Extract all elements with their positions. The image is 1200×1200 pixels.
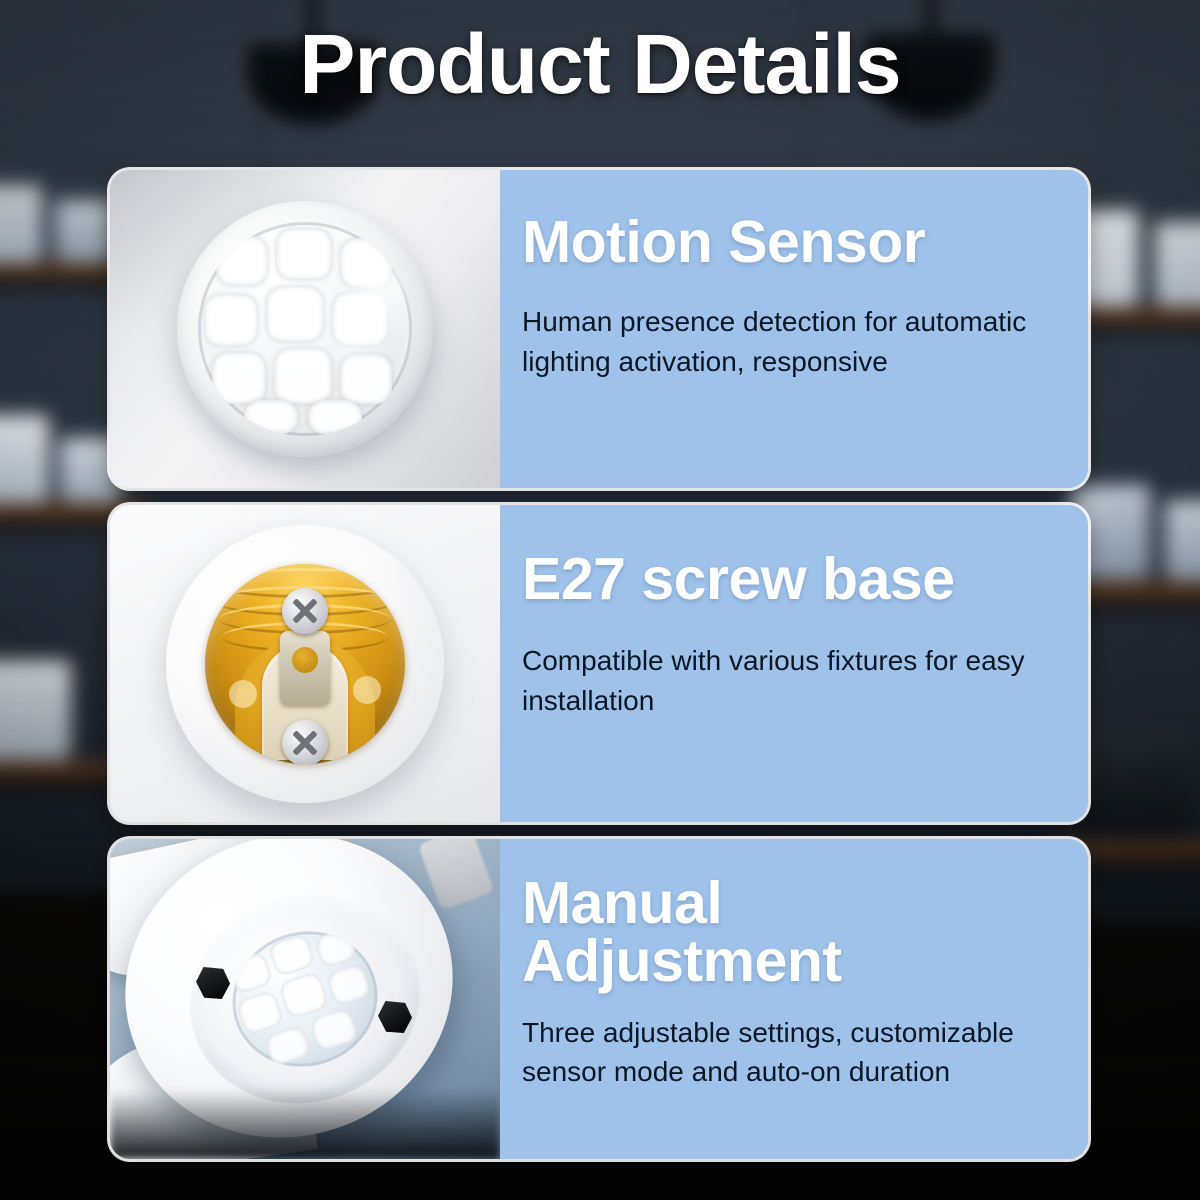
- feature-description: Human presence detection for automatic l…: [522, 302, 1054, 382]
- feature-title: E27 screw base: [522, 551, 1054, 609]
- feature-card[interactable]: Motion Sensor Human presence detection f…: [110, 170, 1088, 488]
- e27-brass-threads: [205, 564, 405, 764]
- pir-dome-sensor-photo: [110, 170, 500, 488]
- feature-card-list: Motion Sensor Human presence detection f…: [110, 170, 1088, 1176]
- sensor-head-knobs-photo: [110, 839, 500, 1159]
- feature-card[interactable]: E27 screw base Compatible with various f…: [110, 505, 1088, 822]
- feature-title: Manual Adjustment: [522, 875, 942, 991]
- socket-center-contact: [280, 631, 330, 705]
- page-title: Product Details: [0, 22, 1200, 106]
- feature-title: Motion Sensor: [522, 214, 1054, 272]
- feature-text-pane: E27 screw base Compatible with various f…: [500, 505, 1088, 822]
- feature-card[interactable]: Manual Adjustment Three adjustable setti…: [110, 839, 1088, 1159]
- pir-lens: [198, 222, 412, 436]
- terminal-screw-top: [282, 588, 328, 634]
- feature-description: Compatible with various fixtures for eas…: [522, 641, 1054, 721]
- feature-text-pane: Manual Adjustment Three adjustable setti…: [500, 839, 1088, 1159]
- e27-socket-photo: [110, 505, 500, 822]
- terminal-screw-bottom: [282, 720, 328, 764]
- feature-text-pane: Motion Sensor Human presence detection f…: [500, 170, 1088, 488]
- feature-description: Three adjustable settings, customizable …: [522, 1013, 1054, 1093]
